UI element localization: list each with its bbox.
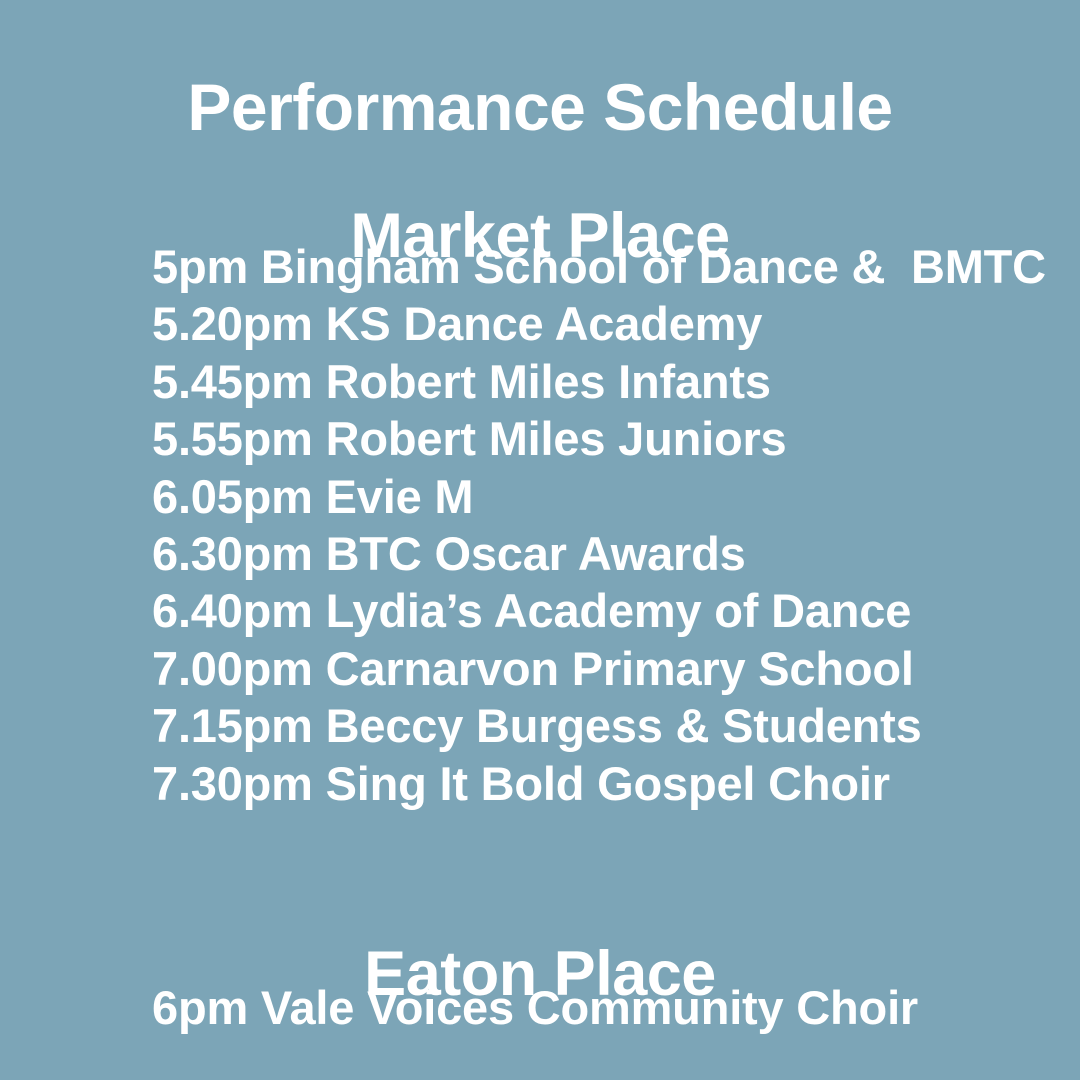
- list-item: 7.15pm Beccy Burgess & Students: [152, 697, 1052, 754]
- list-item: 6pm Vale Voices Community Choir: [152, 979, 1052, 1036]
- schedule-list-eaton-place: 6pm Vale Voices Community Choir: [152, 979, 1052, 1036]
- list-item: 5.55pm Robert Miles Juniors: [152, 410, 1052, 467]
- list-item: 5.45pm Robert Miles Infants: [152, 353, 1052, 410]
- list-item: 5.20pm KS Dance Academy: [152, 295, 1052, 352]
- list-item: 6.05pm Evie M: [152, 468, 1052, 525]
- list-item: 6.40pm Lydia’s Academy of Dance: [152, 582, 1052, 639]
- list-item: 5pm Bingham School of Dance & BMTC: [152, 238, 1052, 295]
- performance-schedule-poster: Performance Schedule Market Place 5pm Bi…: [0, 0, 1080, 1080]
- page-title: Performance Schedule: [0, 71, 1080, 144]
- list-item: 7.00pm Carnarvon Primary School: [152, 640, 1052, 697]
- list-item: 6.30pm BTC Oscar Awards: [152, 525, 1052, 582]
- list-item: 7.30pm Sing It Bold Gospel Choir: [152, 755, 1052, 812]
- schedule-list-market-place: 5pm Bingham School of Dance & BMTC 5.20p…: [152, 238, 1052, 812]
